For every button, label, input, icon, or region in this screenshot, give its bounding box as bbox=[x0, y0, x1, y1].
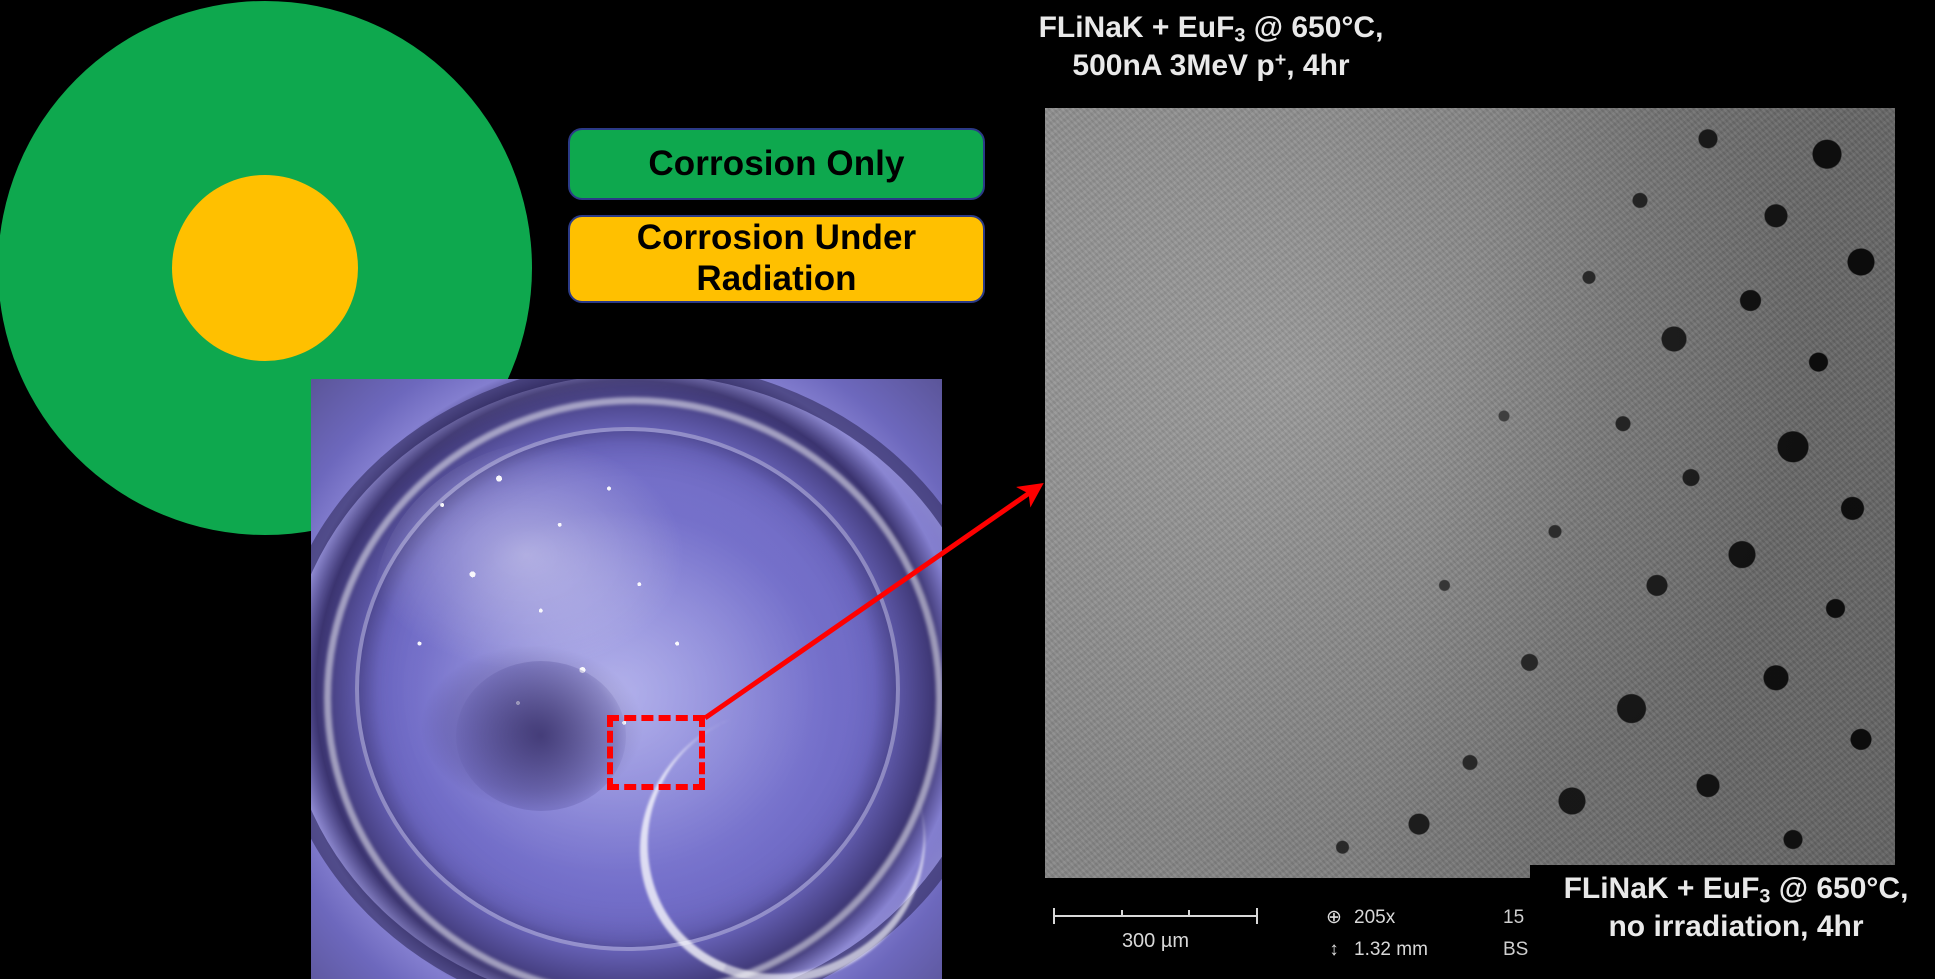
caption-text: FLiNaK + EuF bbox=[1564, 872, 1760, 905]
caption-text: FLiNaK + EuF bbox=[1039, 11, 1235, 44]
sem-metadata-column: ⊕ 205x ↕ 1.32 mm bbox=[1323, 902, 1428, 966]
legend-item-corrosion-under-radiation: Corrosion Under Radiation bbox=[568, 215, 985, 303]
caption-control-line2: no irradiation, 4hr bbox=[1536, 909, 1935, 944]
roi-pointer-arrow bbox=[690, 460, 1070, 750]
scale-bar-tick bbox=[1188, 910, 1190, 917]
scale-bar: 300 µm bbox=[1053, 908, 1258, 953]
sem-metadata-column-occluded: 15 BS bbox=[1503, 902, 1528, 966]
magnifier-plus-icon: ⊕ bbox=[1323, 902, 1345, 934]
sem-vignette bbox=[1045, 108, 1895, 878]
caption-text: @ 650°C, bbox=[1245, 11, 1383, 44]
scale-bar-line bbox=[1053, 908, 1258, 924]
detector-value: BS bbox=[1503, 934, 1528, 966]
caption-superscript: + bbox=[1275, 49, 1287, 71]
legend-label-corrosion-only: Corrosion Only bbox=[648, 144, 904, 184]
caption-irradiated-line1: FLiNaK + EuF3 @ 650°C, bbox=[1026, 10, 1396, 48]
legend: Corrosion Only Corrosion Under Radiation bbox=[568, 128, 985, 303]
vertical-distance-icon: ↕ bbox=[1323, 934, 1345, 966]
caption-irradiated-line2: 500nA 3MeV p+, 4hr bbox=[1026, 48, 1396, 83]
legend-item-corrosion-only: Corrosion Only bbox=[568, 128, 985, 200]
caption-text: @ 650°C, bbox=[1770, 872, 1908, 905]
caption-irradiated: FLiNaK + EuF3 @ 650°C, 500nA 3MeV p+, 4h… bbox=[1020, 6, 1402, 87]
legend-label-corrosion-under-radiation: Corrosion Under Radiation bbox=[570, 218, 983, 299]
accelerating-voltage-value: 15 bbox=[1503, 902, 1528, 934]
caption-text: 500nA 3MeV p bbox=[1072, 49, 1274, 82]
caption-subscript: 3 bbox=[1759, 885, 1770, 907]
figure-canvas: Corrosion Only Corrosion Under Radiation bbox=[0, 0, 1935, 979]
caption-control-line1: FLiNaK + EuF3 @ 650°C, bbox=[1536, 871, 1935, 909]
arrow-line bbox=[705, 487, 1038, 718]
beam-spot-discoloration bbox=[456, 661, 626, 811]
corrosion-under-radiation-circle bbox=[172, 175, 358, 361]
magnification-value: 205x bbox=[1354, 902, 1395, 934]
magnification-row: ⊕ 205x bbox=[1323, 902, 1428, 934]
scale-bar-label: 300 µm bbox=[1053, 930, 1258, 953]
caption-subscript: 3 bbox=[1234, 24, 1245, 46]
caption-control: FLiNaK + EuF3 @ 650°C, no irradiation, 4… bbox=[1530, 865, 1935, 950]
sem-micrograph bbox=[1045, 108, 1895, 878]
caption-text: , 4hr bbox=[1286, 49, 1349, 82]
scale-bar-tick bbox=[1121, 910, 1123, 917]
working-distance-value: 1.32 mm bbox=[1354, 934, 1428, 966]
working-distance-row: ↕ 1.32 mm bbox=[1323, 934, 1428, 966]
